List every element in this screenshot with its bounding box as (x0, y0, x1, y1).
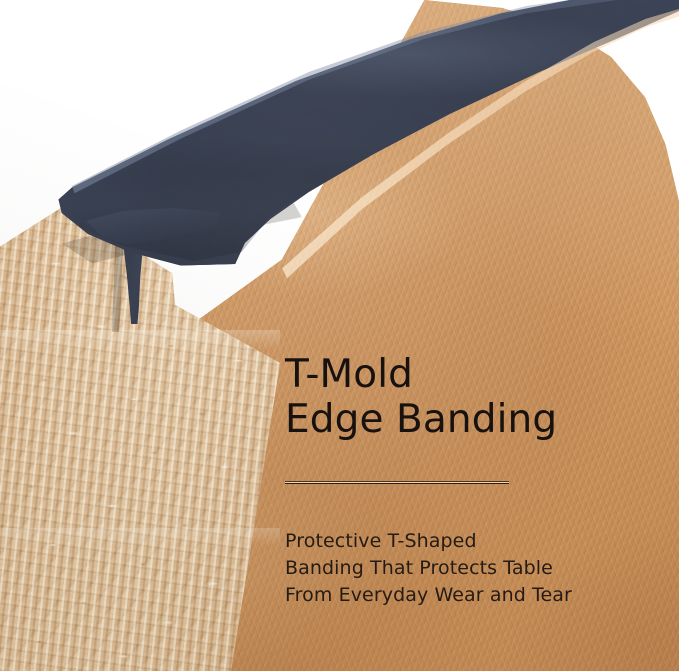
subtitle-line-2: Banding That Protects Table (285, 555, 645, 582)
subtitle-line-1: Protective T-Shaped (285, 528, 645, 555)
page-title: T-MoldEdge Banding (285, 352, 660, 442)
headline-line-2: Edge Banding (285, 397, 660, 442)
subtitle: Protective T-Shaped Banding That Protect… (285, 528, 645, 609)
headline-line-1: T-Mold (285, 352, 413, 397)
product-image: T-MoldEdge Banding Protective T-Shaped B… (0, 0, 679, 671)
subtitle-line-3: From Everyday Wear and Tear (285, 582, 645, 609)
divider (285, 481, 509, 484)
overlay-text-block: T-MoldEdge Banding (285, 352, 660, 442)
